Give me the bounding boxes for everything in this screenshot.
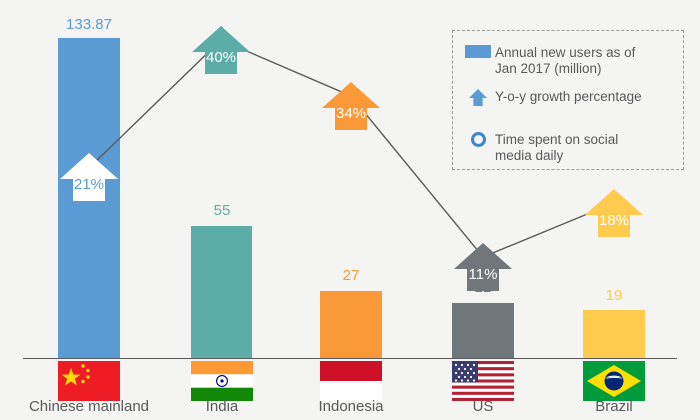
chart-container: 133.87 55 27 22 19 21% 40% 34%	[0, 0, 700, 420]
legend-item-annual-new-users[interactable]: Annual new users as of Jan 2017 (million…	[461, 45, 671, 77]
legend-label-yoy-growth: Y-o-y growth percentage	[495, 89, 642, 105]
flag-india-icon	[191, 361, 253, 401]
flag-brazil-icon	[583, 361, 645, 401]
category-label-india: India	[152, 399, 292, 414]
legend: Annual new users as of Jan 2017 (million…	[452, 30, 684, 170]
flag-indonesia-icon	[320, 361, 382, 401]
category-label-indonesia: Indonesia	[281, 399, 421, 414]
bar-swatch-icon	[461, 45, 495, 58]
legend-item-time-spent[interactable]: Time spent on social media daily	[461, 132, 671, 164]
category-label-brazil: Brazil	[544, 399, 684, 414]
circle-outline-icon	[461, 132, 495, 147]
category-label-us: US	[413, 399, 553, 414]
flag-usa-icon	[452, 361, 514, 401]
flag-china-icon	[58, 361, 120, 401]
legend-label-time-spent: Time spent on social media daily	[495, 132, 645, 164]
up-arrow-icon	[461, 89, 495, 106]
legend-item-yoy-growth[interactable]: Y-o-y growth percentage	[461, 89, 671, 106]
category-label-chinese-mainland: Chinese mainland	[19, 399, 159, 414]
legend-label-annual-new-users: Annual new users as of Jan 2017 (million…	[495, 45, 645, 77]
